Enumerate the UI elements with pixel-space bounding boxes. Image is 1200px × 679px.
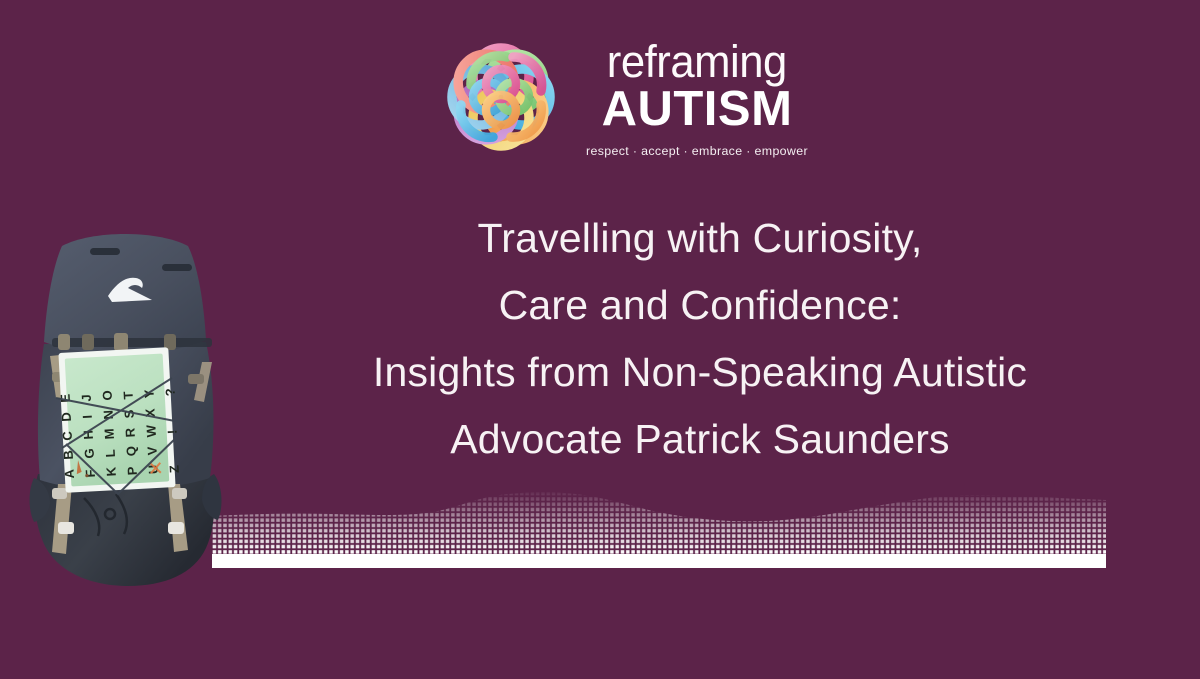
svg-text:R: R [122, 427, 138, 438]
svg-text:W: W [143, 424, 159, 438]
logo-tagline: respect · accept · embrace · empower [586, 144, 808, 158]
slide-title: Travelling with Curiosity, Care and Conf… [230, 205, 1170, 473]
title-slide: A B C D E F G H I J K L M [0, 0, 1200, 679]
svg-text:A: A [61, 468, 77, 479]
title-line-1: Travelling with Curiosity, [230, 205, 1170, 272]
svg-text:!: ! [165, 429, 180, 434]
svg-text:G: G [81, 448, 97, 459]
title-line-4: Advocate Patrick Saunders [230, 406, 1170, 473]
wordmark-reframing: reframing [607, 40, 787, 84]
svg-text:D: D [59, 412, 74, 422]
svg-text:V: V [144, 446, 159, 456]
halftone-dot-wave [212, 470, 1106, 570]
wordmark-autism: AUTISM [602, 85, 793, 135]
knot-logo-icon [428, 24, 574, 170]
reframing-autism-logo: reframing AUTISM respect · accept · embr… [428, 24, 788, 174]
svg-text:O: O [99, 390, 115, 401]
svg-text:J: J [79, 394, 94, 402]
logo-wordmark: reframing AUTISM respect · accept · embr… [586, 24, 808, 158]
svg-text:K: K [103, 466, 119, 477]
svg-text:Y: Y [141, 389, 156, 399]
svg-text:Z: Z [166, 465, 181, 474]
backpack-photo: A B C D E F G H I J K L M [22, 222, 242, 590]
title-line-2: Care and Confidence: [230, 272, 1170, 339]
svg-text:C: C [59, 430, 75, 441]
svg-text:Q: Q [123, 446, 139, 457]
svg-text:M: M [101, 428, 117, 440]
title-line-3: Insights from Non-Speaking Autistic [230, 339, 1170, 406]
alphabet-letterboard: A B C D E F G H I J K L M [56, 347, 182, 494]
svg-text:L: L [103, 449, 118, 458]
svg-text:T: T [121, 391, 136, 400]
svg-text:?: ? [162, 388, 177, 397]
